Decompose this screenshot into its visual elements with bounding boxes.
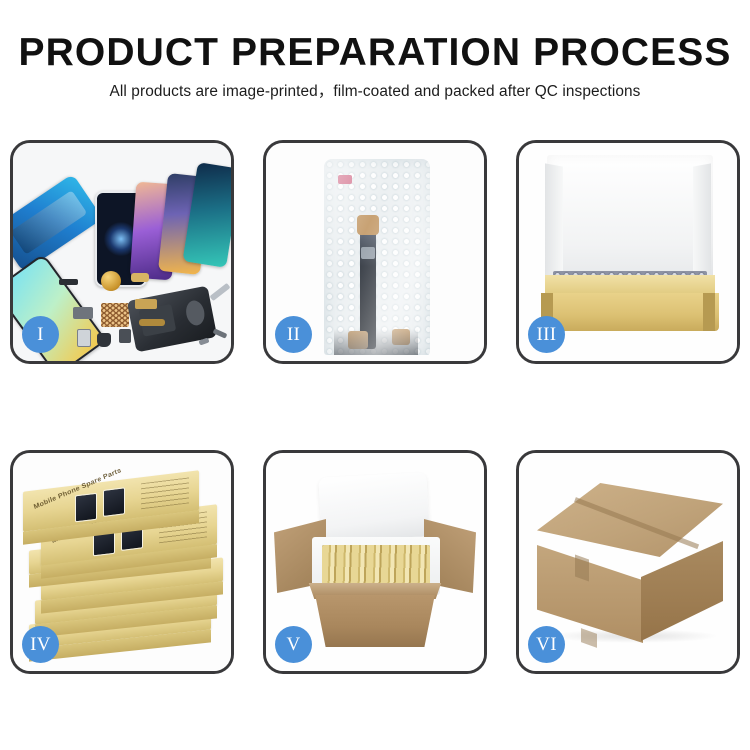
process-step-grid: I II xyxy=(10,140,740,674)
shipping-carton-icon xyxy=(310,595,440,647)
bubble-wrap-bag-icon xyxy=(324,159,430,355)
step-badge-4: IV xyxy=(22,626,59,663)
box-flap-right-icon xyxy=(693,163,711,278)
flex-cable-icon xyxy=(139,319,165,326)
box-flap-left-icon xyxy=(545,163,563,278)
spare-part-icon xyxy=(119,329,131,343)
product-preparation-infographic: PRODUCT PREPARATION PROCESS All products… xyxy=(0,0,750,750)
process-step-panel-5[interactable]: V xyxy=(263,450,487,674)
process-step-panel-6[interactable]: VI xyxy=(516,450,740,674)
gold-coil-part-icon xyxy=(101,271,121,291)
box-text-lines xyxy=(141,477,189,509)
step-badge-1: I xyxy=(22,316,59,353)
page-title: PRODUCT PREPARATION PROCESS xyxy=(0,31,750,75)
step-badge-2: II xyxy=(275,316,312,353)
header: PRODUCT PREPARATION PROCESS All products… xyxy=(0,0,750,122)
step-badge-3: III xyxy=(528,316,565,353)
spare-part-icon xyxy=(131,273,149,282)
process-step-panel-3[interactable]: III xyxy=(516,140,740,364)
spare-part-icon xyxy=(73,307,93,319)
process-step-panel-2[interactable]: II xyxy=(263,140,487,364)
process-step-panel-1[interactable]: I xyxy=(10,140,234,364)
process-step-panel-4[interactable]: Mobile Phone Spare Parts Mobile Phone Sp… xyxy=(10,450,234,674)
spare-part-icon xyxy=(97,333,111,347)
screw-tray-part-icon xyxy=(101,303,129,327)
carton-handle-tab xyxy=(575,554,589,581)
foam-box-interior xyxy=(322,545,430,585)
bag-sheen xyxy=(324,159,430,355)
box-lid-icon xyxy=(547,155,713,283)
foam-lid-icon xyxy=(318,472,429,542)
box-screen-print-icon xyxy=(103,487,125,517)
spare-part-icon xyxy=(59,279,78,285)
step-badge-5: V xyxy=(275,626,312,663)
step-badge-6: VI xyxy=(528,626,565,663)
kraft-box-top-icon: Mobile Phone Spare Parts xyxy=(23,470,199,532)
box-screen-print-icon xyxy=(75,493,97,523)
page-subtitle: All products are image-printed，film-coat… xyxy=(0,82,750,102)
tray-corner-right xyxy=(703,293,715,331)
spare-part-icon xyxy=(77,329,91,347)
spare-part-icon xyxy=(135,299,157,309)
packed-boxes-icon xyxy=(322,545,430,585)
kraft-tray-box-icon xyxy=(541,293,719,331)
